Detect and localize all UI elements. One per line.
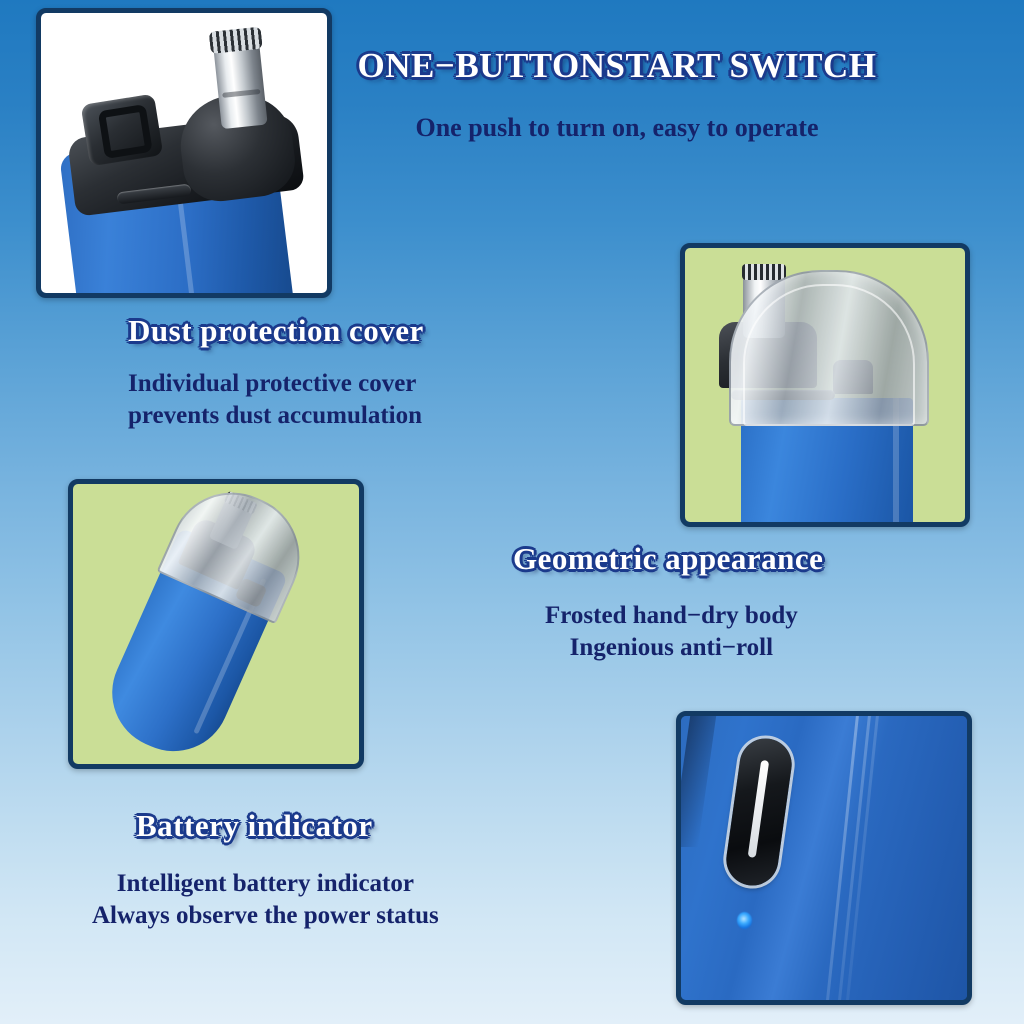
feature-description-geometric-appearance: Frosted hand−dry body Ingenious anti−rol… [545,600,798,663]
feature-line: prevents dust accumulation [128,400,422,432]
clear-cap-highlight-icon [743,284,915,426]
feature-line: Ingenious anti−roll [545,632,798,664]
trimmer-device-group [78,479,352,769]
photo-panel-full-device [68,479,364,769]
photo-panel-clear-cap [680,243,970,527]
page-subtitle: One push to turn on, easy to operate [105,112,1024,145]
feature-line: Always observe the power status [92,900,439,932]
feature-description-battery-indicator: Intelligent battery indicator Always obs… [92,868,439,931]
feature-heading-geometric-appearance: Geometric appearance [513,541,823,577]
feature-heading-dust-protection-cover: Dust protection cover [128,313,424,349]
feature-line: Intelligent battery indicator [92,868,439,900]
feature-line: Individual protective cover [128,368,422,400]
trimmer-body-surface [681,716,967,1000]
clear-cap-icon [729,270,929,426]
page-title: ONE−BUTTONSTART SWITCH [105,46,1024,86]
feature-line: Frosted hand−dry body [545,600,798,632]
feature-heading-battery-indicator: Battery indicator [136,808,373,844]
led-indicator-icon [737,912,752,929]
product-infographic-poster: ONE−BUTTONSTART SWITCH One push to turn … [0,0,1024,1024]
feature-description-dust-protection-cover: Individual protective cover prevents dus… [128,368,422,431]
photo-panel-switch-closeup [676,711,972,1005]
